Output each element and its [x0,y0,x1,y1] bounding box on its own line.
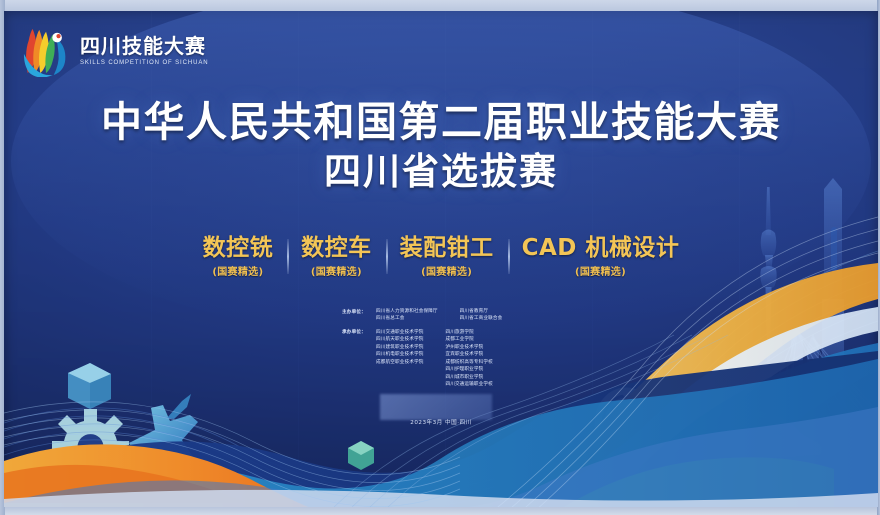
category-note: (国赛精选) [575,263,626,278]
category-note: (国赛精选) [212,263,263,278]
sichuan-skills-flame-logo-icon [22,25,72,77]
category-note: (国赛精选) [421,263,472,278]
event-datetime: 2023年3月 中国·四川 [4,418,878,426]
organizer-block: 主办单位： 四川省人力资源和社会保障厅 四川省总工会 四川省教育厅 四川省工商业… [342,308,572,394]
title-block: 中华人民共和国第二届职业技能大赛 四川省选拔赛 [4,99,878,194]
event-logo: 四川技能大赛 SKILLS COMPETITION OF SICHUAN [22,25,208,77]
category-item: 装配钳工 (国赛精选) [386,235,508,278]
organizer-label: 主办单位： [342,308,376,323]
organizer-line: 四川省人力资源和社会保障厅 [376,308,438,315]
organizer-column: 四川省人力资源和社会保障厅 四川省总工会 [376,308,438,323]
blurred-region [380,394,492,420]
organizer-line: 四川省教育厅 [460,308,503,315]
organizer-column: 四川省教育厅 四川省工商业联合会 [460,308,503,323]
organizer-line: 泸州职业技术学院 [445,344,492,351]
wall-bottom-strip [0,506,880,515]
category-item: 数控车 (国赛精选) [287,235,386,278]
category-row: 数控铣 (国赛精选) 数控车 (国赛精选) 装配钳工 (国赛精选) CAD 机械… [4,235,878,278]
category-name: 装配钳工 [400,235,494,261]
skyline-group [756,178,844,411]
organizer-label: 承办单位： [342,329,376,389]
organizer-line: 四川省总工会 [376,315,438,322]
organizer-line: 四川城市职业学院 [445,374,492,381]
organizer-line: 宜宾职业技术学院 [445,351,492,358]
organizer-line: 成都工业学院 [445,336,492,343]
category-item: 数控铣 (国赛精选) [189,235,288,278]
photo-frame: 四川技能大赛 SKILLS COMPETITION OF SICHUAN 中华人… [0,0,880,515]
organizer-column: 四川旅游学院 成都工业学院 泸州职业技术学院 宜宾职业技术学院 成都纺织高等专科… [445,329,492,389]
main-title: 中华人民共和国第二届职业技能大赛 [4,99,878,146]
cable-bridge [764,327,878,413]
organizer-line: 四川交通职业技术学院 [376,329,423,336]
sub-title: 四川省选拔赛 [4,150,878,194]
organizer-line: 四川旅游学院 [445,329,492,336]
organizer-line: 成都纺织高等专科学校 [445,359,492,366]
organizer-line: 四川省工商业联合会 [460,315,503,322]
organizer-line: 四川机电职业技术学院 [376,351,423,358]
logo-title-en: SKILLS COMPETITION OF SICHUAN [80,60,208,66]
category-name: 数控铣 [203,235,274,261]
category-name: 数控车 [301,235,372,261]
hexagon-icon [348,441,374,470]
bearing-ring-icon [592,391,658,479]
category-item: CAD 机械设计 (国赛精选) [508,235,694,278]
cube-icon [68,363,111,409]
category-note: (国赛精选) [311,263,362,278]
organizer-line: 四川建筑职业技术学院 [376,344,423,351]
organizer-group-host: 主办单位： 四川省人力资源和社会保障厅 四川省总工会 四川省教育厅 四川省工商业… [342,308,572,323]
organizer-line: 四川交通运输职业学校 [445,381,492,388]
category-name: CAD 机械设计 [522,235,680,261]
organizer-line: 四川航天职业技术学院 [376,336,423,343]
aircraft-icon [129,394,198,506]
organizer-column: 四川交通职业技术学院 四川航天职业技术学院 四川建筑职业技术学院 四川机电职业技… [376,329,423,389]
organizer-line: 四川护理职业学院 [445,366,492,373]
logo-title-cn: 四川技能大赛 [80,36,208,57]
organizer-line: 成都航空职业技术学院 [376,359,423,366]
event-backdrop-banner: 四川技能大赛 SKILLS COMPETITION OF SICHUAN 中华人… [4,11,878,507]
organizer-group-coorganizer: 承办单位： 四川交通职业技术学院 四川航天职业技术学院 四川建筑职业技术学院 四… [342,329,572,389]
